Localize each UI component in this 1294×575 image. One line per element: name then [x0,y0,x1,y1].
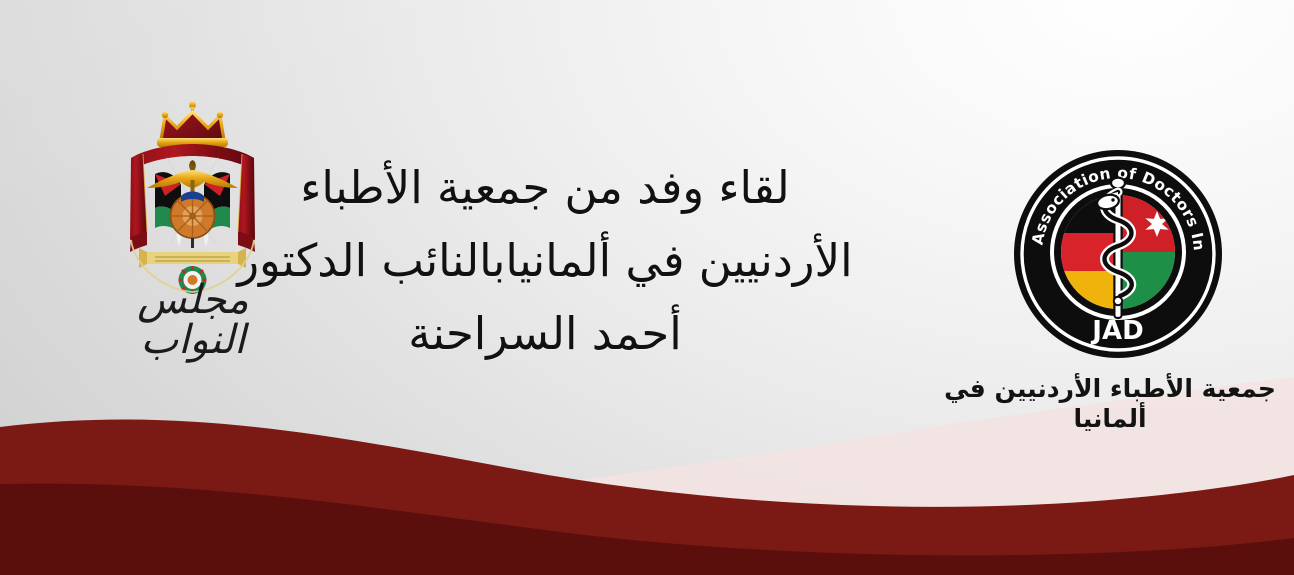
headline: لقاء وفد من جمعية الأطباء الأردنيين في أ… [175,152,915,371]
jad-logo: Jordanian Association of Doctors In Germ… [1012,148,1224,360]
wave-red-dark-layer [0,410,1294,575]
jad-abbreviation: JAD [1090,316,1143,346]
headline-line-1: لقاء وفد من جمعية الأطباء [175,152,915,225]
banner-root: مجلس النواب لقاء وفد من جمعية الأطباء ال… [0,0,1294,575]
jad-logo-caption: جمعية الأطباء الأردنيين في ألمانيا [930,374,1290,434]
headline-line-3: أحمد السراحنة [175,298,915,371]
headline-line-2: الأردنيين في ألمانيابالنائب الدكتور [175,225,915,298]
